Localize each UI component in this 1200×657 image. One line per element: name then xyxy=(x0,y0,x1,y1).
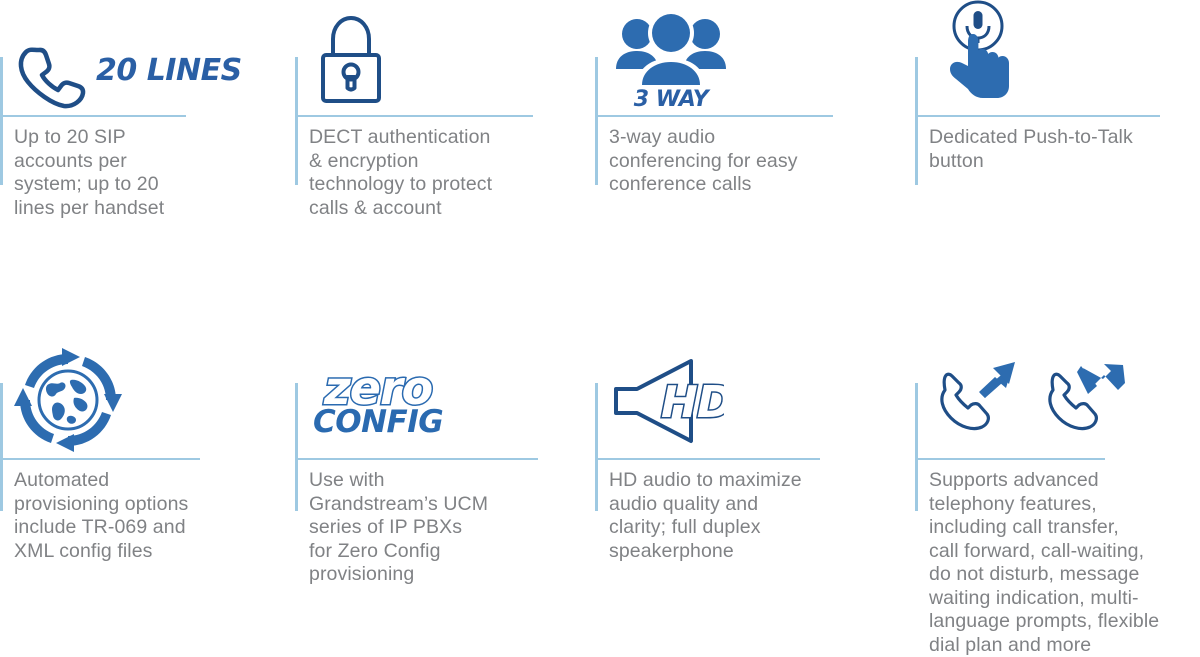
icon-area xyxy=(315,6,387,112)
accent-horizontal-rule xyxy=(595,115,833,117)
accent-horizontal-rule xyxy=(915,458,1105,460)
feature-caption: Dedicated Push-to-Talk button xyxy=(929,126,1199,173)
icon-area: 3 WAY xyxy=(610,2,732,112)
svg-text:HD: HD xyxy=(661,377,724,428)
feature-card-lines-20: 20 LINES Up to 20 SIP accounts per syste… xyxy=(0,0,290,300)
feature-caption: Up to 20 SIP accounts per system; up to … xyxy=(14,126,264,220)
hand-press-microphone-icon xyxy=(935,0,1021,112)
feature-card-zero-config: zero CONFIG Use with Grandstream’s UCM s… xyxy=(295,341,585,641)
accent-vertical-rule xyxy=(0,57,3,185)
feature-card-hd-audio: HD HD audio to maximize audio quality an… xyxy=(595,341,885,641)
wordmark-3-way: 3 WAY xyxy=(634,87,708,112)
icon-area: 20 LINES xyxy=(12,0,242,112)
accent-vertical-rule xyxy=(595,383,598,511)
feature-card-three-way-conference: 3 WAY 3-way audio conferencing for easy … xyxy=(595,0,885,300)
accent-vertical-rule xyxy=(0,383,3,511)
accent-vertical-rule xyxy=(595,57,598,185)
accent-vertical-rule xyxy=(295,57,298,185)
globe-sync-icon xyxy=(12,346,124,454)
icon-area xyxy=(933,349,1138,453)
feature-card-dect-security: DECT authentication & encryption technol… xyxy=(295,0,585,300)
icon-area: zero CONFIG xyxy=(313,347,443,455)
wordmark-20-lines: 20 LINES xyxy=(96,53,242,88)
phone-handset-icon xyxy=(12,38,90,112)
feature-caption: Supports advanced telephony features, in… xyxy=(929,469,1200,657)
feature-caption: 3-way audio conferencing for easy confer… xyxy=(609,126,869,197)
accent-horizontal-rule xyxy=(0,115,186,117)
accent-vertical-rule xyxy=(295,383,298,511)
speaker-icon: HD xyxy=(609,355,724,447)
feature-caption: HD audio to maximize audio quality and c… xyxy=(609,469,874,563)
accent-horizontal-rule xyxy=(595,458,820,460)
accent-vertical-rule xyxy=(915,57,918,185)
feature-grid: 20 LINES Up to 20 SIP accounts per syste… xyxy=(0,0,1200,641)
feature-caption: Automated provisioning options include T… xyxy=(14,469,269,563)
accent-vertical-rule xyxy=(915,383,918,511)
icon-area: HD xyxy=(609,349,724,453)
icon-area xyxy=(935,0,1021,112)
accent-horizontal-rule xyxy=(0,458,200,460)
feature-card-advanced-telephony: Supports advanced telephony features, in… xyxy=(915,341,1200,641)
three-people-icon xyxy=(610,7,732,85)
accent-horizontal-rule xyxy=(915,115,1160,117)
feature-caption: DECT authentication & encryption technol… xyxy=(309,126,574,220)
accent-horizontal-rule xyxy=(295,458,538,460)
padlock-icon xyxy=(315,9,387,109)
feature-card-auto-provisioning: Automated provisioning options include T… xyxy=(0,341,290,641)
feature-card-push-to-talk: Dedicated Push-to-Talk button xyxy=(915,0,1200,300)
call-transfer-forward-icon xyxy=(933,360,1138,442)
zero-config-logo: zero CONFIG xyxy=(313,365,443,438)
zero-config-word-config: CONFIG xyxy=(313,407,443,438)
feature-caption: Use with Grandstream’s UCM series of IP … xyxy=(309,469,569,587)
icon-area xyxy=(12,345,124,455)
accent-horizontal-rule xyxy=(295,115,533,117)
